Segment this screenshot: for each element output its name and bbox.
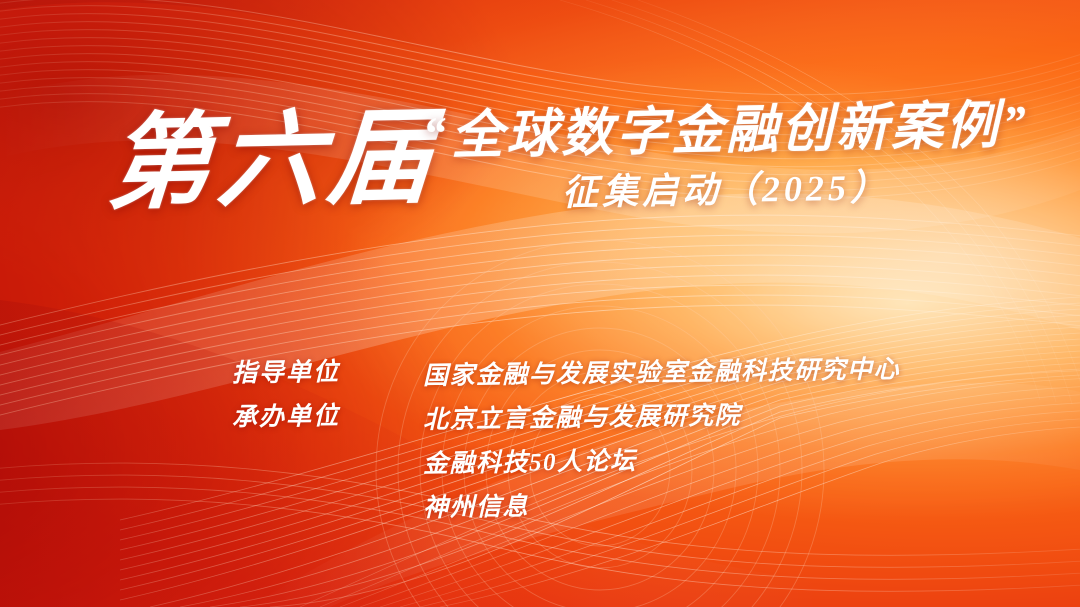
organization-label: 承办单位 (232, 403, 423, 431)
organization-row: 指导单位 国家金融与发展实验室金融科技研究中心 (232, 360, 992, 404)
open-quote-mark: “ (420, 107, 451, 159)
organization-row: 承办单位 北京立言金融与发展研究院 (232, 404, 992, 448)
organization-row: 神州信息 (232, 492, 992, 536)
close-quote-mark: ” (1000, 96, 1031, 148)
edition-title: 第六届 (104, 107, 441, 218)
organization-value: 金融科技50人论坛 (423, 444, 992, 477)
organization-row: 金融科技50人论坛 (232, 448, 992, 492)
theme-title-text: 全球数字金融创新案例 (450, 98, 1001, 166)
organization-value: 北京立言金融与发展研究院 (423, 400, 992, 433)
theme-title: “全球数字金融创新案例” (414, 98, 1039, 165)
poster-content: 第六届 “全球数字金融创新案例” 征集启动（2025） 指导单位 国家金融与发展… (0, 0, 1080, 607)
organization-value: 国家金融与发展实验室金融科技研究中心 (423, 356, 992, 389)
subtitle-launch-year: 征集启动（2025） (414, 166, 1039, 216)
poster-canvas: 第六届 “全球数字金融创新案例” 征集启动（2025） 指导单位 国家金融与发展… (0, 0, 1080, 607)
theme-block: “全球数字金融创新案例” 征集启动（2025） (414, 104, 1038, 211)
organization-value: 神州信息 (423, 488, 992, 521)
headline-block: 第六届 “全球数字金融创新案例” 征集启动（2025） (108, 104, 1038, 244)
organization-label: 指导单位 (232, 359, 423, 387)
organizations-block: 指导单位 国家金融与发展实验室金融科技研究中心 承办单位 北京立言金融与发展研究… (232, 360, 992, 536)
